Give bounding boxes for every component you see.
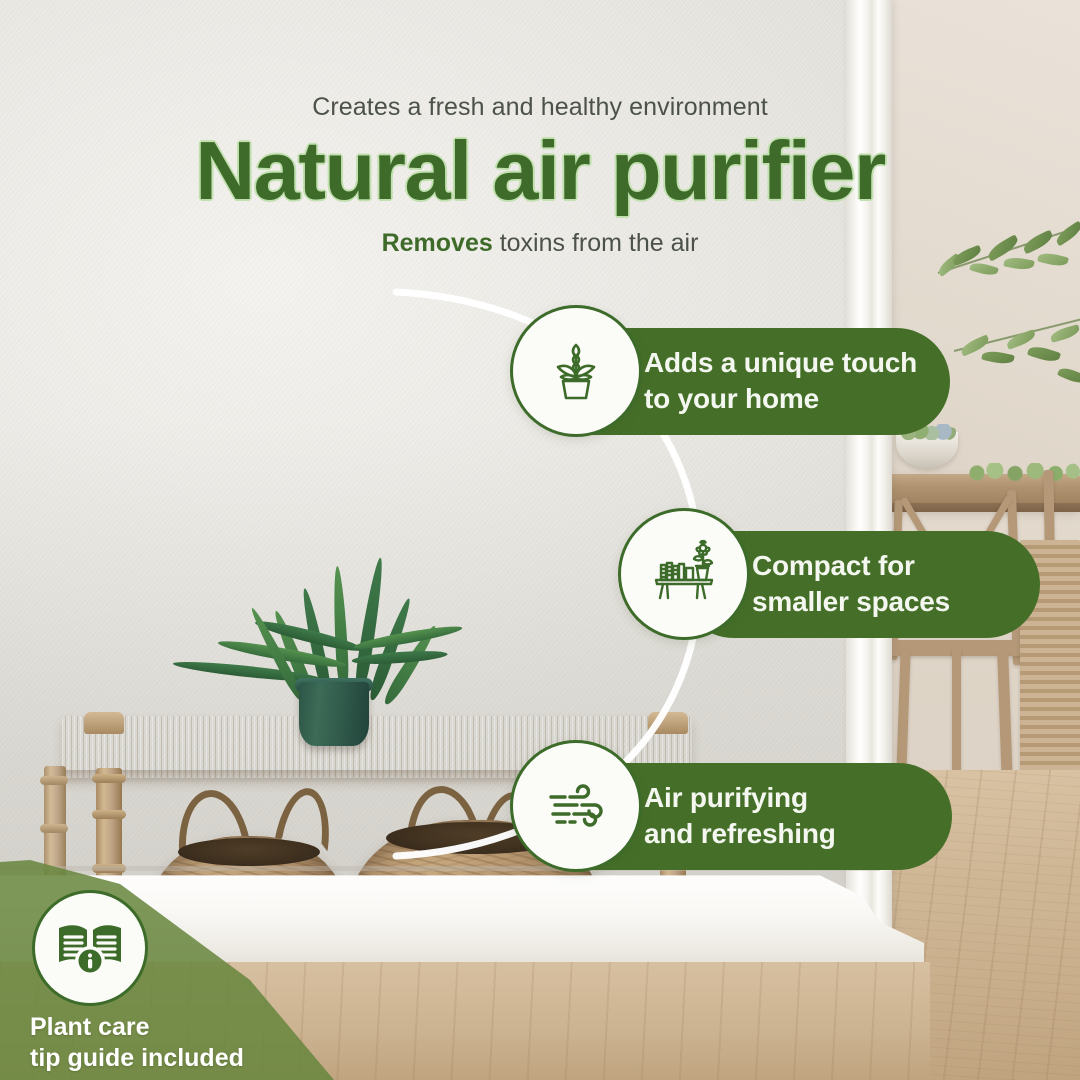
feature-label-2: Compact for smaller spaces <box>752 548 950 621</box>
tip-label: Plant care tip guide included <box>30 1012 244 1075</box>
feature-icon-circle-2[interactable] <box>618 508 750 640</box>
wind-airflow-icon <box>539 769 613 843</box>
tip-icon-circle[interactable] <box>32 890 148 1006</box>
subheadline: Removes toxins from the air <box>0 229 1080 258</box>
potted-plant-icon <box>540 335 612 407</box>
page-title: Natural air purifier <box>0 131 1080 211</box>
subheadline-emphasis: Removes <box>382 229 493 257</box>
feature-icon-circle-1[interactable] <box>510 305 642 437</box>
subheadline-rest: toxins from the air <box>493 229 699 257</box>
feature-label-1: Adds a unique touch to your home <box>644 345 917 418</box>
feature-label-3: Air purifying and refreshing <box>644 780 836 853</box>
open-book-info-icon <box>53 911 127 985</box>
olive-branch <box>930 230 1080 430</box>
feature-badge-unique-touch[interactable]: Adds a unique touch to your home <box>510 305 950 437</box>
table-greens <box>968 463 1080 481</box>
feature-badge-compact[interactable]: Compact for smaller spaces <box>618 508 1048 640</box>
bench-corner-right <box>648 712 688 734</box>
eyebrow-text: Creates a fresh and healthy environment <box>0 92 1080 122</box>
infographic-canvas: Creates a fresh and healthy environment … <box>0 0 1080 1080</box>
shelf-with-plant-icon <box>647 537 721 611</box>
dining-chair-leg-3 <box>952 648 961 784</box>
feature-icon-circle-3[interactable] <box>510 740 642 872</box>
bench-corner-left <box>84 712 124 734</box>
header-block: Creates a fresh and healthy environment … <box>0 92 1080 258</box>
feature-badge-air-purifying[interactable]: Air purifying and refreshing <box>510 740 952 872</box>
plant-pot <box>299 682 369 746</box>
